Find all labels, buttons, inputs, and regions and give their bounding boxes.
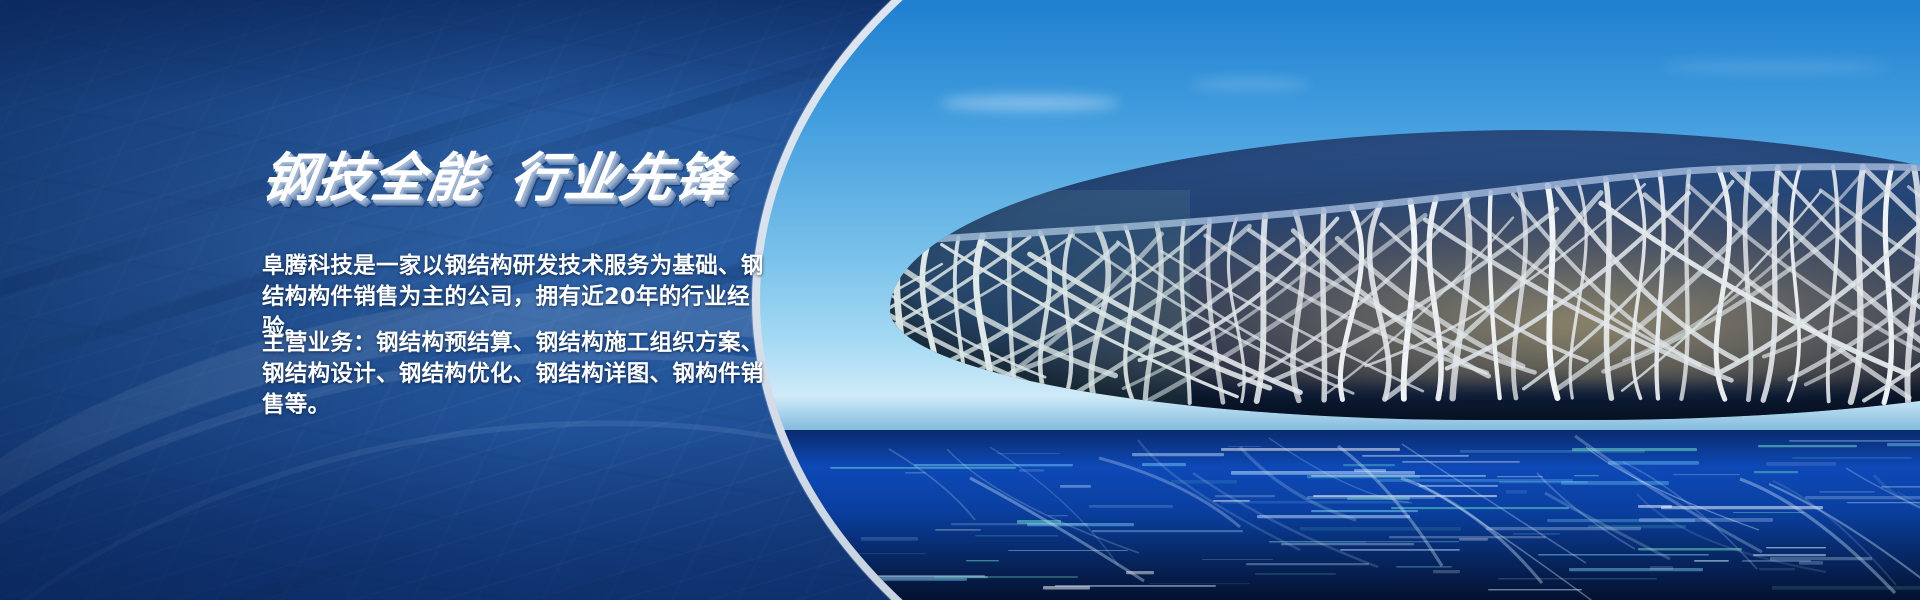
cloud-icon	[1660, 60, 1890, 74]
content-block: 钢技全能行业先锋 阜腾科技是一家以钢结构研发技术服务为基础、钢结构构件销售为主的…	[262, 0, 782, 600]
cloud-icon	[940, 95, 1120, 111]
stadium-lattice-svg	[890, 130, 1920, 420]
services-paragraph: 主营业务：钢结构预结算、钢结构施工组织方案、钢结构设计、钢结构优化、钢结构详图、…	[262, 328, 774, 421]
page-title: 钢技全能行业先锋	[258, 152, 734, 205]
headline-part-1: 钢技全能	[257, 148, 487, 209]
birds-nest-stadium	[890, 130, 1920, 420]
stadium-photo	[760, 0, 1920, 600]
stadium-lattice	[890, 130, 1920, 420]
headline-part-2: 行业先锋	[505, 148, 735, 209]
reflection-lattice-svg	[760, 430, 1920, 600]
cloud-icon	[1190, 78, 1310, 90]
hero-banner: 钢技全能行业先锋 阜腾科技是一家以钢结构研发技术服务为基础、钢结构构件销售为主的…	[0, 0, 1920, 600]
water-reflection	[760, 430, 1920, 600]
